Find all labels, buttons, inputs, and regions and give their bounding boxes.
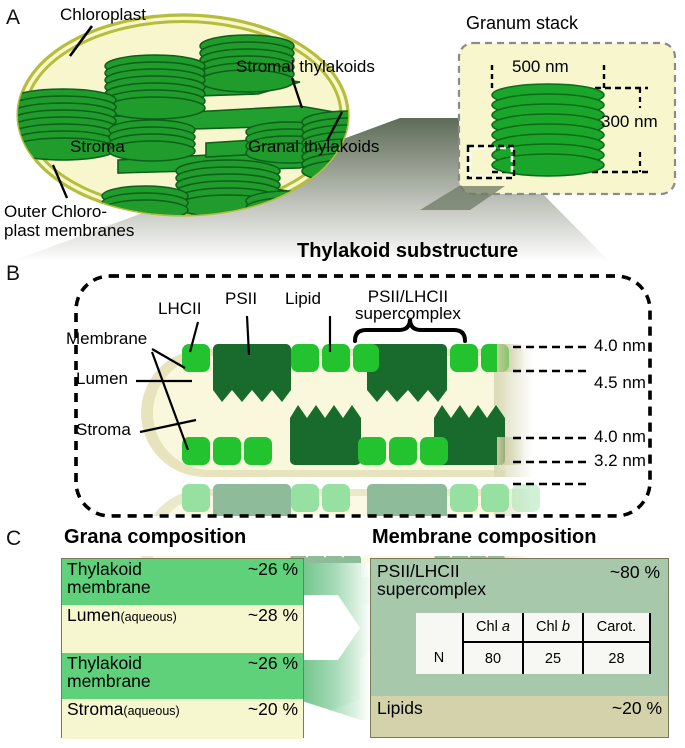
- grana-row-4-pct: ~20 %: [244, 700, 298, 718]
- grana-row-thylakoid-membrane-1: Thylakoid membrane ~26 %: [62, 559, 303, 605]
- membrane-supercomplex-row: PSII/LHCII supercomplex ~80 % Chl a Chl …: [371, 559, 668, 696]
- pigment-row-label: N: [416, 642, 463, 674]
- membrane-composition-title: Membrane composition: [372, 526, 596, 549]
- label-granal-thylakoids: Granal thylakoids: [248, 138, 379, 155]
- pigment-table-corner: [416, 613, 463, 642]
- membrane-lipids-name: Lipids: [377, 698, 423, 737]
- label-granum-width: 500 nm: [512, 58, 569, 75]
- grana-row-2-aqueous: (aqueous): [121, 610, 177, 624]
- pigment-table-value-row: N 80 25 28: [416, 642, 650, 674]
- label-granum-height: 300 nm: [601, 113, 658, 130]
- dimension-membrane-lower: 4.0 nm: [594, 428, 646, 445]
- granum-stack-2: [105, 55, 205, 119]
- label-stromal-thylakoids: Stromal thylakoids: [236, 58, 375, 75]
- pigment-table-header-row: Chl a Chl b Carot.: [416, 613, 650, 642]
- grana-row-2-label: Lumen: [67, 605, 121, 625]
- pigment-col-chl-b: Chl b: [523, 613, 583, 642]
- dimension-lumen: 4.5 nm: [594, 374, 646, 391]
- label-psii: PSII: [225, 290, 257, 307]
- membrane-lipids-pct: ~20 %: [612, 698, 662, 737]
- grana-row-4-name: Stroma(aqueous): [67, 700, 180, 718]
- figure-root: A Chloroplast Stromal thylakoids Granal …: [0, 0, 685, 748]
- panel-b-title: Thylakoid substructure: [297, 240, 518, 263]
- label-stroma-a: Stroma: [70, 138, 125, 155]
- label-lumen: Lumen: [76, 370, 128, 387]
- grana-composition-title: Grana composition: [64, 526, 246, 549]
- thylakoid-upper: [141, 344, 534, 477]
- dimension-membrane-upper: 4.0 nm: [594, 337, 646, 354]
- grana-row-1-name: Thylakoid membrane: [67, 560, 151, 596]
- membrane-lipids-row: Lipids ~20 %: [371, 696, 668, 737]
- label-lipid: Lipid: [285, 290, 321, 307]
- pigment-col-carot: Carot.: [583, 613, 650, 642]
- label-psii-lhcii-supercomplex: PSII/LHCII supercomplex: [355, 288, 461, 322]
- grana-row-2-name: Lumen(aqueous): [67, 606, 177, 624]
- grana-row-2-pct: ~28 %: [244, 606, 298, 624]
- label-lhcii: LHCII: [158, 300, 201, 317]
- panel-letter-a: A: [6, 6, 20, 30]
- grana-row-thylakoid-membrane-2: Thylakoid membrane ~26 %: [62, 653, 303, 699]
- grana-row-1-pct: ~26 %: [244, 560, 298, 578]
- pigment-col-chl-a: Chl a: [463, 613, 523, 642]
- label-chloroplast: Chloroplast: [60, 6, 146, 23]
- grana-composition-table: Thylakoid membrane ~26 % Lumen(aqueous) …: [61, 558, 304, 738]
- pigment-stoichiometry-table: Chl a Chl b Carot. N 80 25 28: [416, 613, 651, 674]
- grana-row-4-aqueous: (aqueous): [123, 704, 179, 718]
- grana-row-stroma: Stroma(aqueous) ~20 %: [62, 699, 303, 739]
- dimension-stroma-gap: 3.2 nm: [594, 452, 646, 469]
- label-granum-stack-title: Granum stack: [466, 14, 578, 32]
- label-membrane: Membrane: [66, 330, 147, 347]
- grana-row-4-label: Stroma: [67, 699, 123, 719]
- panel-letter-c: C: [6, 527, 21, 551]
- panel-letter-b: B: [6, 262, 20, 286]
- grana-row-3-name: Thylakoid membrane: [67, 654, 151, 690]
- membrane-composition-table: PSII/LHCII supercomplex ~80 % Chl a Chl …: [370, 558, 669, 738]
- pigment-value-chl-a: 80: [463, 642, 523, 674]
- membrane-supercomplex-pct: ~80 %: [610, 562, 660, 583]
- granum-inset-discs: [492, 84, 604, 176]
- label-stroma-b: Stroma: [76, 421, 131, 438]
- pigment-value-carot: 28: [583, 642, 650, 674]
- label-outer-chloroplast-membranes: Outer Chloro- plast membranes: [4, 203, 134, 240]
- grana-row-lumen: Lumen(aqueous) ~28 %: [62, 605, 303, 653]
- pigment-value-chl-b: 25: [523, 642, 583, 674]
- grana-row-3-pct: ~26 %: [244, 654, 298, 672]
